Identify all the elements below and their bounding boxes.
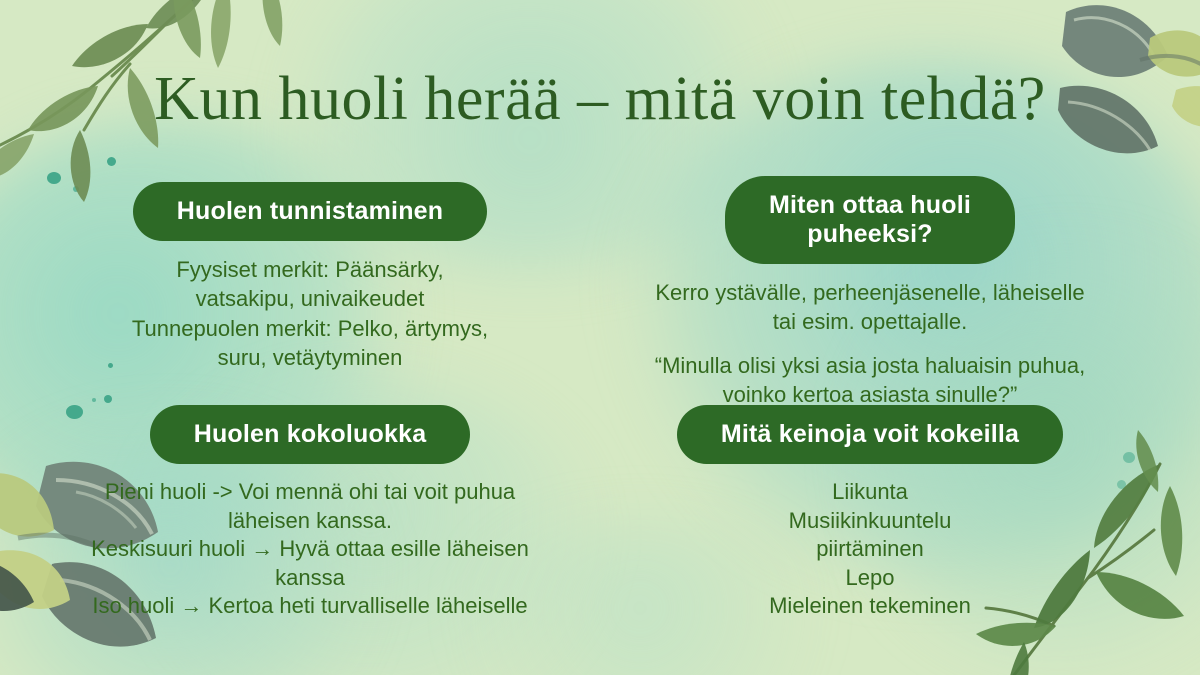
section-heading-size[interactable]: Huolen kokoluokka [150, 405, 471, 464]
slide-canvas: Kun huoli herää – mitä voin tehdä? Huole… [0, 0, 1200, 675]
section-body-recognise: Fyysiset merkit: Päänsärky, vatsakipu, u… [40, 255, 580, 372]
page-title: Kun huoli herää – mitä voin tehdä? [0, 64, 1200, 135]
section-body-size: Pieni huoli -> Voi mennä ohi tai voit pu… [40, 478, 580, 621]
section-heading-methods[interactable]: Mitä keinoja voit kokeilla [677, 405, 1063, 464]
paint-speck [104, 395, 112, 403]
section-body-methods: Liikunta Musiikinkuuntelu piirtäminen Le… [600, 478, 1140, 621]
section-size: Huolen kokoluokka Pieni huoli -> Voi men… [40, 405, 580, 621]
section-heading-raise[interactable]: Miten ottaa huoli puheeksi? [725, 176, 1015, 264]
section-body-raise: Kerro ystävälle, perheenjäsenelle, lähei… [600, 278, 1140, 337]
section-quote-raise: “Minulla olisi yksi asia josta haluaisin… [600, 351, 1140, 410]
section-raise: Miten ottaa huoli puheeksi? Kerro ystävä… [600, 176, 1140, 409]
section-heading-recognise[interactable]: Huolen tunnistaminen [133, 182, 488, 241]
section-recognise: Huolen tunnistaminen Fyysiset merkit: Pä… [40, 182, 580, 372]
paint-speck [107, 157, 116, 166]
paint-speck [92, 398, 96, 402]
section-methods: Mitä keinoja voit kokeilla Liikunta Musi… [600, 405, 1140, 621]
